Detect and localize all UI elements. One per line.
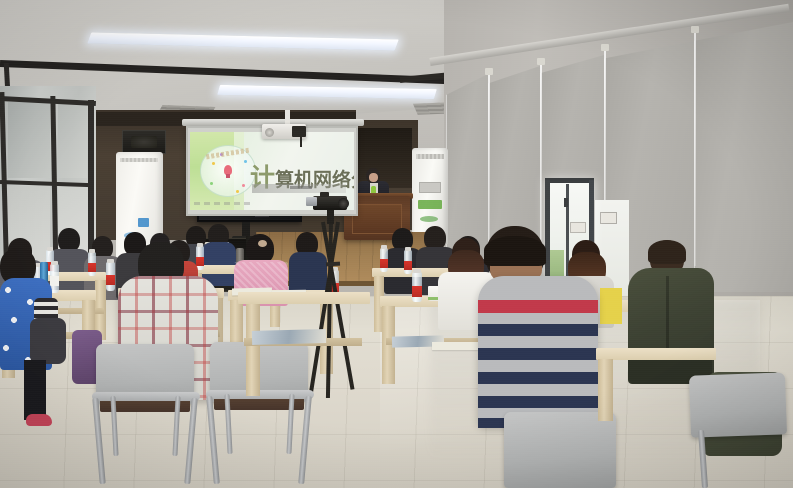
magazine-3[interactable] bbox=[252, 329, 326, 345]
camera-mic bbox=[320, 192, 329, 197]
water-bottle-10-label bbox=[412, 286, 422, 297]
water-bottle-5-cap bbox=[405, 247, 411, 251]
window-frame-top bbox=[545, 178, 594, 183]
empty-chair-4-back[interactable] bbox=[689, 372, 787, 437]
sweater-stripe-navy-3 bbox=[478, 372, 598, 384]
water-bottle-3-cap bbox=[197, 243, 203, 247]
olive-jacket-seam bbox=[666, 276, 669, 356]
air-conditioner-right-display bbox=[419, 182, 441, 193]
water-bottle-2-label bbox=[88, 263, 96, 272]
air-conditioner-left-display bbox=[138, 218, 149, 227]
slide-confetti-2 bbox=[244, 160, 247, 163]
tripod-brace bbox=[326, 262, 340, 267]
camera-lcd-screen bbox=[306, 197, 317, 206]
desk-top-foreground-right bbox=[596, 348, 716, 360]
slide-confetti-6 bbox=[236, 190, 239, 193]
empty-chair-1-rail bbox=[92, 392, 200, 401]
sweater-stripe-red bbox=[478, 300, 598, 313]
water-bottle-3-label bbox=[196, 257, 204, 266]
water-bottle-7-cap bbox=[51, 261, 58, 265]
blind-bracket-3 bbox=[601, 44, 609, 51]
speaker-cone-icon bbox=[131, 136, 157, 148]
backpack-left[interactable] bbox=[30, 318, 66, 364]
audience-hair-olive-man bbox=[648, 240, 686, 264]
air-conditioner-right-badge bbox=[418, 200, 442, 209]
blind-bracket-1 bbox=[485, 68, 493, 75]
glass-pane-a bbox=[8, 102, 50, 178]
water-bottle-2-cap bbox=[89, 249, 95, 253]
sweater-stripe-navy-1 bbox=[478, 324, 598, 336]
window-sign bbox=[600, 212, 617, 224]
slide-confetti-4 bbox=[242, 184, 245, 187]
sweater-stripe-navy-2 bbox=[478, 348, 598, 360]
water-bottle-7-label bbox=[50, 276, 59, 286]
empty-chair-2-rail bbox=[206, 390, 314, 399]
desk-leg-foreground-left bbox=[246, 300, 260, 396]
slide-confetti-3 bbox=[210, 182, 213, 185]
paper-sheet-3[interactable] bbox=[432, 342, 478, 350]
air-conditioner-right-logo bbox=[420, 216, 438, 222]
sweater-stripe-navy-4 bbox=[478, 396, 598, 408]
blind-bracket-4 bbox=[691, 26, 699, 33]
desk-top-foreground-left bbox=[238, 292, 370, 304]
roller-blind-5[interactable] bbox=[694, 22, 793, 292]
projector-cable-block bbox=[292, 126, 306, 137]
classroom-photo: 计算机网络分类 bbox=[0, 0, 793, 488]
slide-confetti-1 bbox=[212, 162, 215, 165]
air-conditioner-right-vent bbox=[416, 154, 444, 159]
glass-pane-b bbox=[58, 104, 87, 178]
shoe-left bbox=[26, 414, 52, 426]
air-conditioner-left-grill bbox=[120, 158, 158, 162]
window-handle[interactable] bbox=[564, 198, 568, 207]
audience-hair-top-striped-man bbox=[484, 236, 546, 266]
water-bottle-1-cap bbox=[47, 247, 53, 251]
podium-backdrop bbox=[356, 128, 412, 188]
water-bottle-8-cap bbox=[107, 259, 114, 263]
water-bottle-10-cap bbox=[413, 269, 421, 273]
blind-cord-1[interactable] bbox=[488, 72, 490, 252]
water-bottle-4-cap bbox=[381, 245, 387, 249]
blind-cord-4[interactable] bbox=[694, 30, 696, 266]
water-bottle-8-label bbox=[106, 275, 115, 285]
audience-yellow-garment bbox=[600, 288, 622, 324]
desk-leg-foreground-right bbox=[598, 359, 613, 421]
projector-cable bbox=[300, 137, 302, 147]
hair-clip-icon bbox=[258, 240, 267, 247]
camera-lens-icon bbox=[338, 198, 349, 209]
slide-bulb-stem bbox=[226, 174, 230, 178]
podium-front-panel bbox=[352, 204, 402, 234]
presenter-face bbox=[369, 173, 378, 182]
empty-chair-3-back[interactable] bbox=[504, 412, 616, 488]
blind-cord-2[interactable] bbox=[540, 62, 542, 258]
water-bottle-5-label bbox=[404, 261, 412, 270]
slide-subtitle-line bbox=[290, 186, 312, 189]
slide-footer-text bbox=[194, 202, 254, 205]
window-notice bbox=[570, 222, 586, 233]
audience-legs-polkadot bbox=[24, 360, 46, 420]
water-bottle-4-label bbox=[380, 259, 388, 268]
projector-lens-icon bbox=[265, 128, 274, 137]
blind-bracket-2 bbox=[537, 58, 545, 65]
